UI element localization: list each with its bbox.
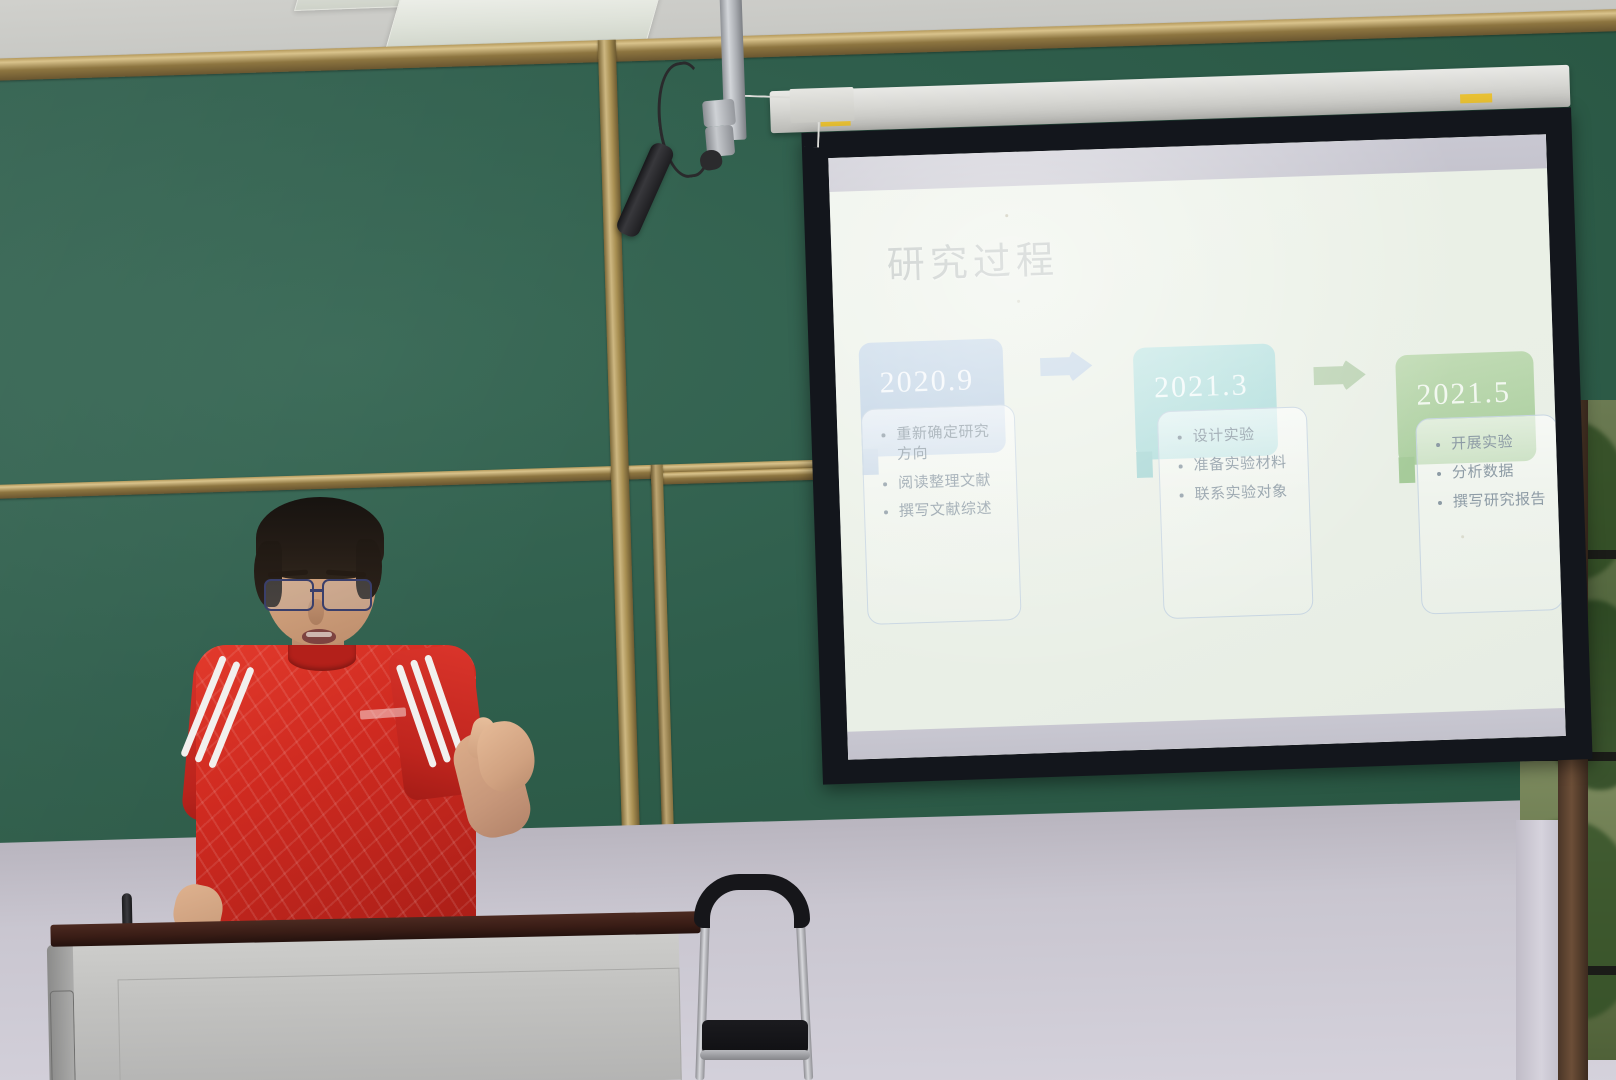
presenter-mouth — [302, 629, 336, 644]
stage-2-chip-tail — [1136, 451, 1153, 478]
arrow-head-icon — [1341, 356, 1366, 393]
arrow-head-icon — [1068, 347, 1093, 384]
housing-warning-sticker — [1460, 93, 1492, 103]
stage-1-bullet-list: 重新确定研究方向 阅读整理文献 撰写文献综述 — [878, 421, 1007, 531]
screen-surface: 研究过程 2020.9 重新确定研究方向 阅读整理文献 撰写文献综述 — [828, 134, 1566, 759]
wall-pillar — [1516, 820, 1558, 1080]
list-item: 阅读整理文献 — [880, 470, 1007, 494]
projection-screen: 研究过程 2020.9 重新确定研究方向 阅读整理文献 撰写文献综述 — [801, 107, 1592, 784]
microphone-ceiling-mount — [789, 87, 854, 123]
list-item: 联系实验对象 — [1176, 481, 1299, 505]
stage-3-bullet-list: 开展实验 分析数据 撰写研究报告 — [1433, 431, 1550, 521]
eyeglasses-icon — [258, 579, 382, 609]
list-item: 设计实验 — [1174, 424, 1297, 448]
presentation-slide: 研究过程 2020.9 重新确定研究方向 阅读整理文献 撰写文献综述 — [828, 134, 1566, 759]
list-item: 重新确定研究方向 — [878, 421, 1005, 465]
slide-band-top — [828, 134, 1547, 192]
lectern-body — [73, 930, 682, 1080]
lectern-side-slot — [50, 990, 76, 1080]
arrow-shaft — [1040, 357, 1071, 376]
shirt-collar — [288, 645, 356, 671]
eyeglass-bridge — [310, 589, 324, 592]
chair-seat — [702, 1020, 808, 1054]
lectern-front-panel — [118, 968, 682, 1080]
classroom-scene: 研究过程 2020.9 重新确定研究方向 阅读整理文献 撰写文献综述 — [0, 0, 1616, 1080]
stage-3-date-label: 2021.5 — [1416, 376, 1512, 413]
list-item: 准备实验材料 — [1175, 452, 1298, 476]
chair — [684, 874, 819, 1080]
presenter — [160, 495, 560, 935]
stage-2-bullet-list: 设计实验 准备实验材料 联系实验对象 — [1174, 424, 1299, 514]
stage-1-date-label: 2020.9 — [879, 363, 975, 400]
list-item: 撰写文献综述 — [881, 499, 1008, 523]
slide-title: 研究过程 — [886, 228, 1060, 289]
chair-seat-rim — [700, 1050, 810, 1060]
stage-3-panel: 开展实验 分析数据 撰写研究报告 — [1415, 414, 1563, 615]
chair-backrest — [694, 874, 810, 928]
arrow-shaft — [1313, 366, 1344, 385]
stage-2-panel: 设计实验 准备实验材料 联系实验对象 — [1157, 406, 1314, 619]
stage-2-date-label: 2021.3 — [1154, 368, 1250, 405]
list-item: 开展实验 — [1433, 431, 1548, 455]
lectern — [50, 911, 703, 1080]
list-item: 分析数据 — [1434, 460, 1549, 484]
screen-dust-speck — [1017, 300, 1020, 303]
eyeglass-lens — [322, 579, 372, 611]
stage-1-panel: 重新确定研究方向 阅读整理文献 撰写文献综述 — [861, 404, 1022, 625]
screen-dust-speck — [1005, 214, 1008, 217]
stage-3-chip-tail — [1398, 457, 1415, 484]
eyeglass-lens — [264, 579, 314, 611]
slide-band-bottom — [847, 708, 1566, 760]
list-item: 撰写研究报告 — [1435, 489, 1550, 513]
